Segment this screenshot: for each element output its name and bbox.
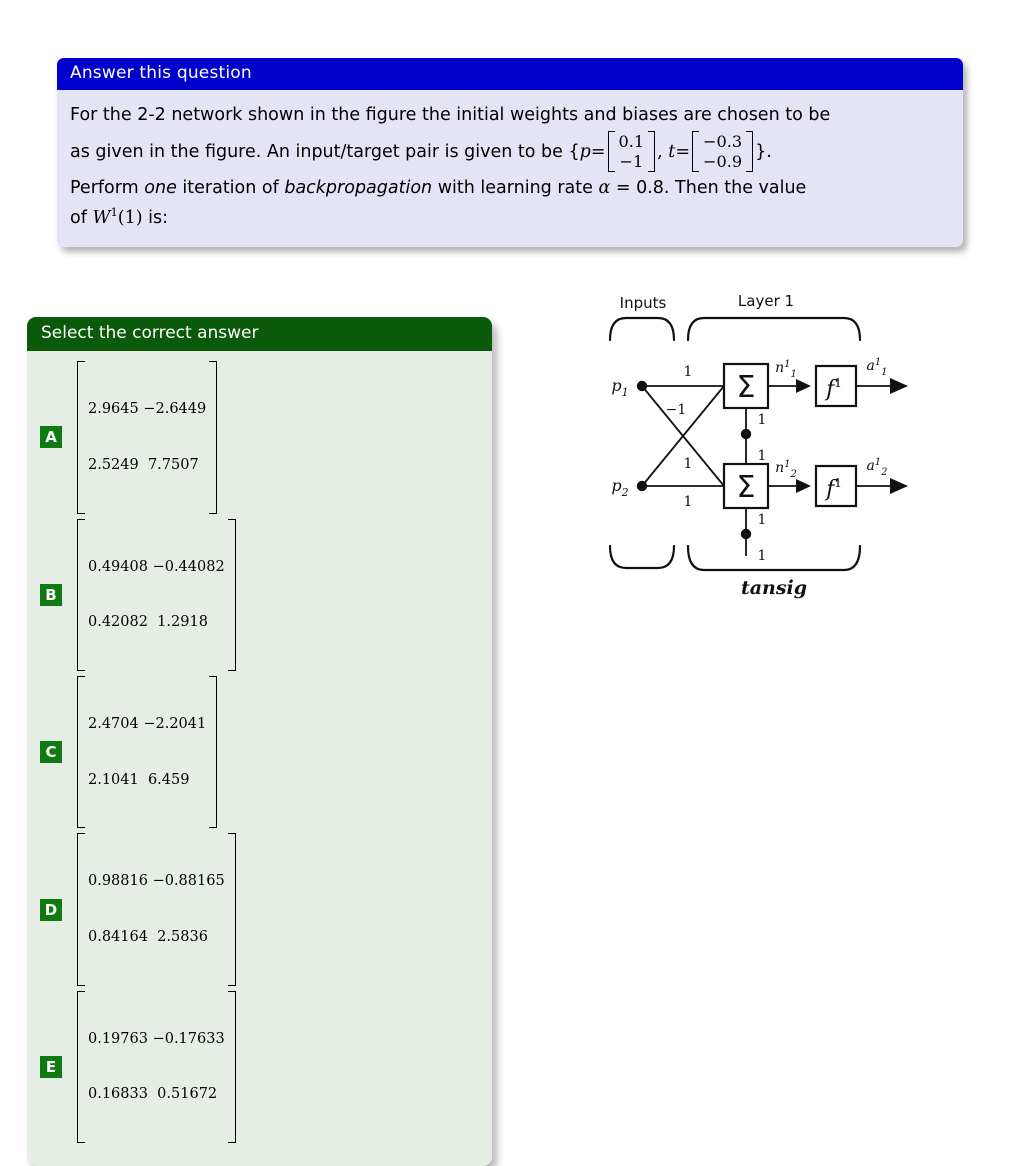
vector-separator: , bbox=[657, 142, 663, 162]
question-line-2-end: }. bbox=[755, 142, 772, 162]
network-diagram: Inputs Layer 1 p1 p2 1 −1 1 1 Σ bbox=[596, 288, 916, 608]
t-equals: = bbox=[675, 142, 690, 162]
emphasis-one: one bbox=[144, 178, 177, 198]
answer-option-e[interactable]: E 0.19763 −0.17633 0.16833 0.51672 bbox=[37, 991, 482, 1143]
answer-badge-b[interactable]: B bbox=[40, 584, 62, 606]
net-arrowhead-2 bbox=[796, 479, 811, 493]
question-panel: Answer this question For the 2-2 network… bbox=[57, 58, 963, 247]
layer-brace-top bbox=[688, 318, 860, 340]
layer-brace-bottom bbox=[688, 546, 860, 570]
input-label-p1: p1 bbox=[611, 376, 628, 399]
answer-matrix-a-row-0: 2.9645 −2.6449 bbox=[88, 400, 206, 419]
answer-badge-a[interactable]: A bbox=[40, 426, 62, 448]
answer-badge-c[interactable]: C bbox=[40, 741, 62, 763]
question-line-4: of W1(1) is: bbox=[70, 203, 947, 232]
weight-label-p2-n2: 1 bbox=[684, 494, 693, 510]
answer-matrix-c-row-1: 2.1041 6.459 bbox=[88, 771, 206, 790]
inputs-brace-bottom bbox=[610, 546, 674, 568]
answer-badge-d[interactable]: D bbox=[40, 899, 62, 921]
inputs-brace-top bbox=[610, 318, 674, 340]
emphasis-backpropagation: backpropagation bbox=[284, 178, 432, 198]
net-label-n2: n12 bbox=[775, 459, 797, 480]
answer-matrix-d-row-1: 0.84164 2.5836 bbox=[88, 928, 225, 947]
alpha-symbol: α bbox=[598, 178, 610, 198]
bias-label-2-top: 1 bbox=[758, 512, 767, 528]
answer-matrix-d-row-0: 0.98816 −0.88165 bbox=[88, 872, 225, 891]
network-diagram-svg: Inputs Layer 1 p1 p2 1 −1 1 1 Σ bbox=[596, 288, 916, 608]
output-arrowhead-1 bbox=[890, 378, 908, 394]
bias-label-1-top: 1 bbox=[758, 412, 767, 428]
transfer-function-label: tansig bbox=[741, 577, 807, 599]
answers-panel-title: Select the correct answer bbox=[27, 317, 492, 351]
bias-label-1-bottom: 1 bbox=[758, 448, 767, 464]
output-arrowhead-2 bbox=[890, 478, 908, 494]
question-line-2: as given in the figure. An input/target … bbox=[70, 130, 947, 175]
answer-matrix-a-row-1: 2.5249 7.7507 bbox=[88, 456, 206, 475]
answer-option-d[interactable]: D 0.98816 −0.88165 0.84164 2.5836 bbox=[37, 833, 482, 985]
net-label-n1: n11 bbox=[775, 359, 797, 380]
p-vector-row-0: 0.1 bbox=[617, 132, 647, 151]
p-vector-row-1: −1 bbox=[617, 152, 647, 171]
learning-rate-text: with learning rate bbox=[432, 178, 598, 198]
p-equals: = bbox=[591, 142, 606, 162]
iteration-text: iteration of bbox=[177, 178, 285, 198]
answer-matrix-e: 0.19763 −0.17633 0.16833 0.51672 bbox=[77, 991, 236, 1143]
perform-text: Perform bbox=[70, 178, 144, 198]
answer-matrix-a: 2.9645 −2.6449 2.5249 7.7507 bbox=[77, 361, 217, 513]
answer-option-c[interactable]: C 2.4704 −2.2041 2.1041 6.459 bbox=[37, 676, 482, 828]
t-vector: −0.3−0.9 bbox=[692, 131, 753, 172]
p-symbol: p bbox=[580, 142, 591, 162]
sigma-symbol-1: Σ bbox=[737, 370, 756, 405]
input-label-p2: p2 bbox=[611, 476, 628, 499]
bias-node-2 bbox=[741, 529, 751, 539]
answer-matrix-e-row-0: 0.19763 −0.17633 bbox=[88, 1030, 225, 1049]
p-vector: 0.1−1 bbox=[608, 131, 656, 172]
bias-label-2-bottom: 1 bbox=[758, 548, 767, 564]
W-superscript: 1 bbox=[110, 205, 117, 219]
answer-badge-e[interactable]: E bbox=[40, 1056, 62, 1078]
inputs-label: Inputs bbox=[620, 294, 667, 312]
t-vector-row-0: −0.3 bbox=[701, 132, 744, 151]
W-symbol: W bbox=[92, 207, 110, 227]
input-node-p1 bbox=[637, 381, 647, 391]
question-panel-title: Answer this question bbox=[57, 58, 963, 90]
question-line-1: For the 2-2 network shown in the figure … bbox=[70, 101, 947, 129]
t-vector-row-1: −0.9 bbox=[701, 152, 744, 171]
output-label-a2: a12 bbox=[866, 457, 887, 478]
learning-rate-value-text: = 0.8. Then the value bbox=[610, 178, 806, 198]
input-node-p2 bbox=[637, 481, 647, 491]
answer-matrix-b-row-0: 0.49408 −0.44082 bbox=[88, 558, 225, 577]
answer-matrix-b-row-1: 0.42082 1.2918 bbox=[88, 613, 225, 632]
answer-matrix-d: 0.98816 −0.88165 0.84164 2.5836 bbox=[77, 833, 236, 985]
answers-panel: Select the correct answer A 2.9645 −2.64… bbox=[27, 317, 492, 1166]
weight-label-p2-n1: 1 bbox=[684, 456, 693, 472]
question-line-2-text: as given in the figure. An input/target … bbox=[70, 142, 580, 162]
answers-panel-body: A 2.9645 −2.6449 2.5249 7.7507 B 0.49408… bbox=[27, 351, 492, 1166]
question-line-3: Perform one iteration of backpropagation… bbox=[70, 174, 947, 202]
weight-label-p1-n1: 1 bbox=[684, 364, 693, 380]
weight-label-p1-n2: −1 bbox=[666, 402, 687, 418]
net-arrowhead-1 bbox=[796, 379, 811, 393]
answer-option-a[interactable]: A 2.9645 −2.6449 2.5249 7.7507 bbox=[37, 361, 482, 513]
is-text: is: bbox=[143, 207, 168, 227]
answer-matrix-c: 2.4704 −2.2041 2.1041 6.459 bbox=[77, 676, 217, 828]
of-text: of bbox=[70, 207, 92, 227]
answer-matrix-c-row-0: 2.4704 −2.2041 bbox=[88, 715, 206, 734]
answer-matrix-b: 0.49408 −0.44082 0.42082 1.2918 bbox=[77, 519, 236, 671]
answer-option-b[interactable]: B 0.49408 −0.44082 0.42082 1.2918 bbox=[37, 519, 482, 671]
question-panel-body: For the 2-2 network shown in the figure … bbox=[57, 90, 963, 246]
output-label-a1: a11 bbox=[866, 357, 887, 378]
answer-matrix-e-row-1: 0.16833 0.51672 bbox=[88, 1085, 225, 1104]
sigma-symbol-2: Σ bbox=[737, 470, 756, 505]
layer-label: Layer 1 bbox=[738, 292, 794, 310]
bias-node-1 bbox=[741, 429, 751, 439]
W-argument: (1) bbox=[118, 207, 143, 227]
